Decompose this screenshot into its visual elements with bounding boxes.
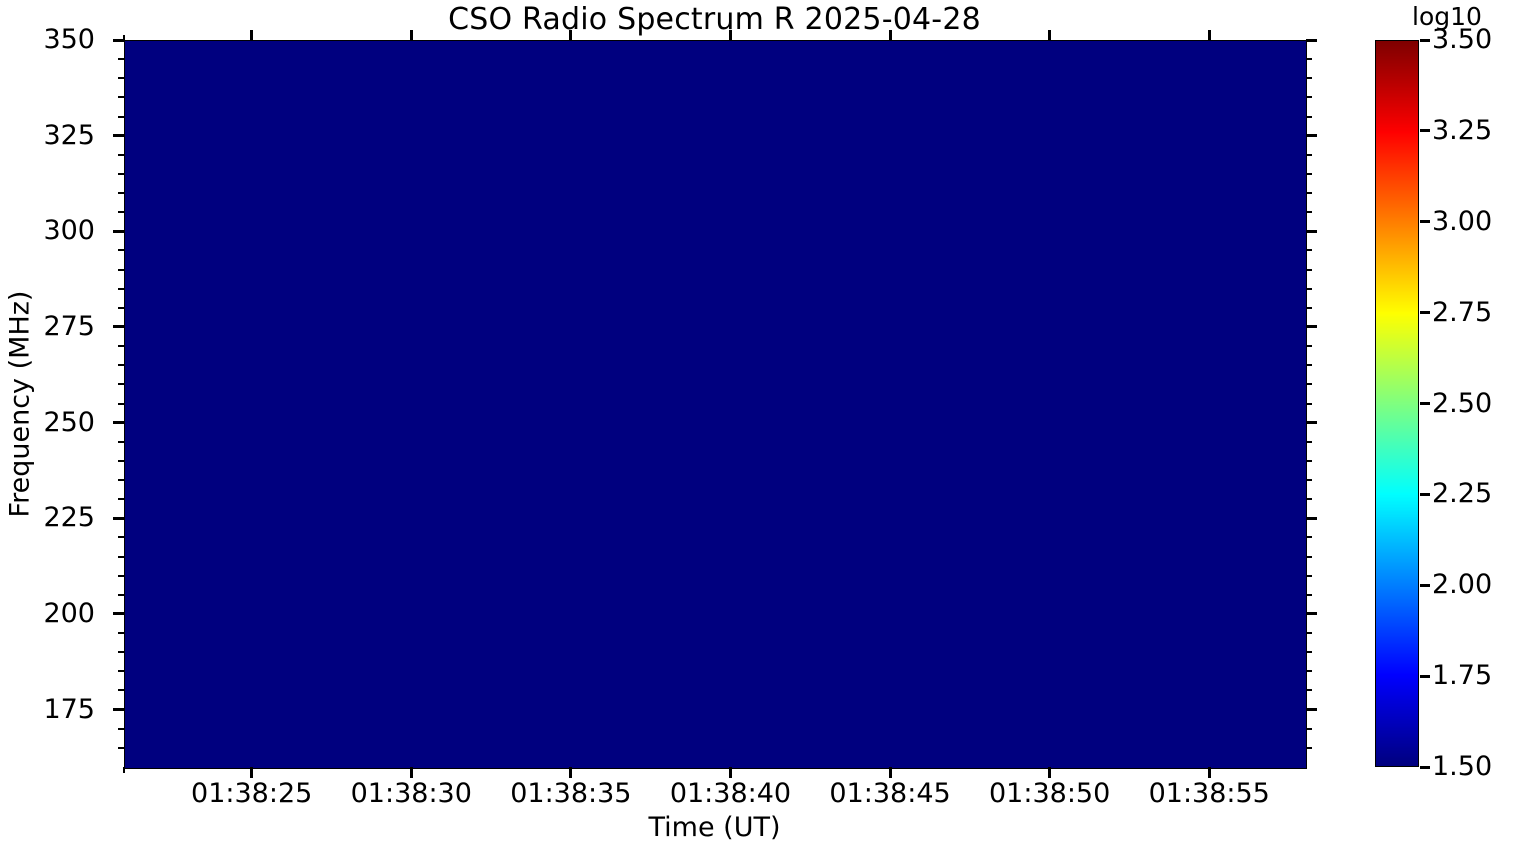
y-tick-minor-right	[1306, 154, 1312, 156]
y-tick-major-right	[1306, 134, 1317, 137]
y-tick-minor-right	[1306, 383, 1312, 385]
y-tick-major-right	[1306, 230, 1317, 233]
y-tick-minor-right	[1306, 307, 1312, 309]
y-tick-minor	[118, 479, 124, 481]
x-tick-major-top	[250, 30, 253, 41]
x-tick-minor-top	[123, 35, 125, 41]
y-tick-minor-right	[1306, 116, 1312, 118]
spectrogram-plot-area	[124, 40, 1307, 769]
y-tick-minor	[118, 96, 124, 98]
colorbar-tick-label: 3.25	[1432, 117, 1492, 144]
colorbar-tick-label: 2.00	[1432, 571, 1492, 598]
y-tick-minor	[118, 575, 124, 577]
y-tick-minor-right	[1306, 58, 1312, 60]
page-title: CSO Radio Spectrum R 2025-04-28	[124, 2, 1305, 37]
y-tick-minor-right	[1306, 594, 1312, 596]
x-tick-major-top	[729, 30, 732, 41]
y-tick-label: 350	[0, 26, 95, 53]
y-tick-minor	[118, 403, 124, 405]
y-tick-major-right	[1306, 612, 1317, 615]
y-tick-minor	[118, 536, 124, 538]
y-tick-minor	[118, 116, 124, 118]
y-tick-major	[113, 325, 124, 328]
colorbar-tick-label: 3.00	[1432, 208, 1492, 235]
y-tick-minor-right	[1306, 632, 1312, 634]
y-tick-minor-right	[1306, 728, 1312, 730]
y-tick-minor	[118, 307, 124, 309]
colorbar	[1375, 40, 1419, 767]
y-tick-minor-right	[1306, 575, 1312, 577]
colorbar-canvas	[1376, 41, 1418, 766]
y-tick-minor	[118, 498, 124, 500]
y-tick-major-right	[1306, 517, 1317, 520]
y-tick-minor	[118, 173, 124, 175]
x-tick-major	[410, 767, 413, 778]
y-tick-minor-right	[1306, 403, 1312, 405]
y-tick-minor-right	[1306, 249, 1312, 251]
y-tick-minor-right	[1306, 670, 1312, 672]
colorbar-tick-label: 2.75	[1432, 299, 1492, 326]
y-tick-minor	[118, 345, 124, 347]
y-tick-major-right	[1306, 325, 1317, 328]
colorbar-tick	[1420, 39, 1430, 42]
y-tick-minor	[118, 460, 124, 462]
x-tick-label: 01:38:45	[829, 778, 950, 809]
y-tick-label: 300	[0, 217, 95, 244]
y-tick-minor-right	[1306, 441, 1312, 443]
y-tick-minor-right	[1306, 747, 1312, 749]
y-tick-label: 275	[0, 313, 95, 340]
y-tick-minor-right	[1306, 498, 1312, 500]
y-tick-minor-right	[1306, 345, 1312, 347]
x-tick-label: 01:38:55	[1149, 778, 1270, 809]
y-tick-minor-right	[1306, 479, 1312, 481]
y-tick-minor-right	[1306, 689, 1312, 691]
y-tick-major	[113, 134, 124, 137]
y-tick-major	[113, 612, 124, 615]
y-tick-minor-right	[1306, 211, 1312, 213]
y-tick-label: 200	[0, 600, 95, 627]
y-tick-minor	[118, 154, 124, 156]
y-tick-minor-right	[1306, 556, 1312, 558]
y-tick-minor	[118, 689, 124, 691]
colorbar-title: log10	[1412, 2, 1482, 31]
x-tick-label: 01:38:50	[989, 778, 1110, 809]
x-axis-label: Time (UT)	[124, 812, 1305, 843]
y-tick-minor	[118, 192, 124, 194]
y-tick-minor	[118, 670, 124, 672]
y-tick-minor	[118, 594, 124, 596]
y-tick-label: 250	[0, 409, 95, 436]
y-tick-minor	[118, 269, 124, 271]
y-tick-minor	[118, 383, 124, 385]
y-tick-label: 225	[0, 504, 95, 531]
y-tick-minor	[118, 441, 124, 443]
x-tick-label: 01:38:30	[351, 778, 472, 809]
x-tick-major	[729, 767, 732, 778]
y-tick-minor	[118, 556, 124, 558]
colorbar-tick	[1420, 220, 1430, 223]
radio-spectrum-figure: CSO Radio Spectrum R 2025-04-28 Frequenc…	[0, 0, 1516, 864]
y-tick-minor-right	[1306, 96, 1312, 98]
y-tick-minor	[118, 651, 124, 653]
y-tick-minor-right	[1306, 536, 1312, 538]
y-tick-minor-right	[1306, 364, 1312, 366]
x-tick-major	[889, 767, 892, 778]
y-tick-major	[113, 421, 124, 424]
y-tick-minor	[118, 58, 124, 60]
y-tick-minor-right	[1306, 460, 1312, 462]
y-tick-minor	[118, 747, 124, 749]
spectrogram-canvas	[125, 41, 1306, 768]
colorbar-tick-label: 2.25	[1432, 480, 1492, 507]
y-tick-minor	[118, 632, 124, 634]
colorbar-tick	[1420, 129, 1430, 132]
y-tick-minor-right	[1306, 192, 1312, 194]
colorbar-tick	[1420, 493, 1430, 496]
y-tick-major-right	[1306, 39, 1317, 42]
x-tick-major-top	[889, 30, 892, 41]
y-tick-minor	[118, 77, 124, 79]
x-tick-label: 01:38:40	[670, 778, 791, 809]
colorbar-gradient	[1375, 40, 1419, 767]
y-tick-major	[113, 517, 124, 520]
colorbar-tick-label: 2.50	[1432, 390, 1492, 417]
y-tick-minor-right	[1306, 77, 1312, 79]
x-tick-major	[250, 767, 253, 778]
x-tick-major	[569, 767, 572, 778]
x-tick-label: 01:38:35	[510, 778, 631, 809]
x-tick-major	[1048, 767, 1051, 778]
y-tick-minor	[118, 728, 124, 730]
y-tick-major	[113, 230, 124, 233]
colorbar-tick	[1420, 584, 1430, 587]
x-tick-minor	[123, 767, 125, 773]
colorbar-tick-label: 1.75	[1432, 662, 1492, 689]
y-tick-minor-right	[1306, 651, 1312, 653]
y-tick-label: 175	[0, 696, 95, 723]
y-tick-minor	[118, 364, 124, 366]
x-tick-major-top	[1208, 30, 1211, 41]
y-tick-minor	[118, 249, 124, 251]
colorbar-tick	[1420, 311, 1430, 314]
colorbar-tick-label: 1.50	[1432, 753, 1492, 780]
x-tick-label: 01:38:25	[191, 778, 312, 809]
y-tick-major-right	[1306, 421, 1317, 424]
x-tick-major-top	[410, 30, 413, 41]
x-tick-major-top	[1048, 30, 1051, 41]
y-tick-major-right	[1306, 708, 1317, 711]
colorbar-tick	[1420, 675, 1430, 678]
y-tick-label: 325	[0, 122, 95, 149]
x-tick-major	[1208, 767, 1211, 778]
y-tick-minor-right	[1306, 288, 1312, 290]
y-tick-major	[113, 708, 124, 711]
y-tick-minor	[118, 211, 124, 213]
colorbar-tick	[1420, 402, 1430, 405]
y-tick-minor	[118, 288, 124, 290]
y-tick-minor-right	[1306, 173, 1312, 175]
y-tick-minor-right	[1306, 269, 1312, 271]
x-tick-major-top	[569, 30, 572, 41]
colorbar-tick	[1420, 766, 1430, 769]
